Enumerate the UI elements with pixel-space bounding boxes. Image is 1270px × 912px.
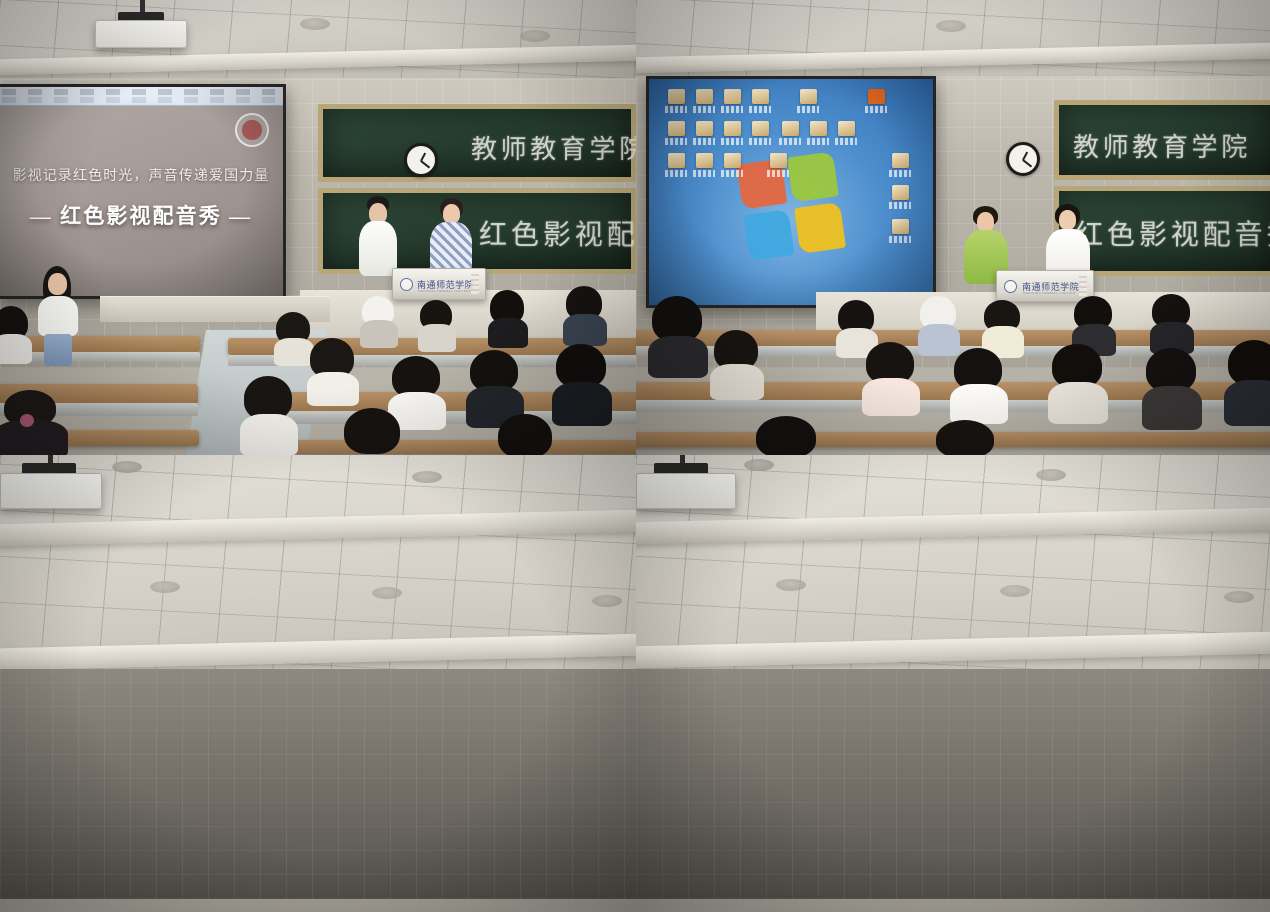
hair	[756, 416, 816, 455]
panel-top-right: 教师教育学院 红色影视配音秀	[636, 0, 1270, 455]
ceiling-speaker	[1036, 469, 1066, 481]
ceiling-speaker	[520, 30, 550, 42]
icon-glyph	[892, 153, 909, 168]
wall-tiling	[636, 669, 1270, 899]
torso	[862, 378, 920, 416]
slide-main-title: — 红色影视配音秀 —	[0, 200, 283, 230]
slide-toolbar	[0, 87, 283, 106]
blackboard-line1: 教师教育学院	[1073, 127, 1251, 164]
blackboard-line1: 教师教育学院	[471, 129, 636, 166]
student-seated	[954, 348, 1004, 422]
projection-screen	[646, 76, 936, 308]
student-seated	[362, 296, 396, 348]
torso	[552, 382, 612, 426]
front-wall	[0, 669, 636, 899]
torso	[307, 372, 359, 406]
ceiling-speaker	[1224, 591, 1254, 603]
icon-glyph	[724, 153, 741, 168]
student-seated	[244, 376, 294, 454]
podium-institution-en: NANTONG NORMAL COLLEGE	[418, 289, 471, 293]
podium-emblem-icon	[1004, 280, 1017, 293]
title-slide: 影视记录红色时光，声音传递爱国力量 — 红色影视配音秀 —	[0, 87, 283, 296]
logo-pane-yellow	[794, 202, 845, 253]
torso	[488, 318, 528, 348]
icon-glyph	[724, 121, 741, 136]
torso	[1142, 386, 1202, 430]
icon-glyph	[892, 185, 909, 200]
desktop-icon[interactable]	[865, 89, 887, 113]
desktop-icon[interactable]	[693, 89, 715, 113]
icon-glyph	[724, 89, 741, 104]
icon-glyph	[810, 121, 827, 136]
ceiling-projector	[95, 20, 187, 48]
icon-label	[889, 236, 911, 243]
slide-subtitle: 影视记录红色时光，声音传递爱国力量	[0, 165, 283, 185]
student-seated	[1146, 348, 1198, 426]
desktop-icon[interactable]	[807, 121, 829, 145]
torso	[0, 334, 32, 364]
podium-emblem-icon	[400, 278, 413, 291]
icon-label	[749, 138, 771, 145]
ceiling-speaker	[372, 587, 402, 599]
student-seated	[498, 414, 554, 455]
torso	[0, 420, 68, 455]
icon-glyph	[696, 89, 713, 104]
icon-label	[665, 106, 687, 113]
icon-label	[889, 170, 911, 177]
icon-label	[721, 138, 743, 145]
icon-label	[721, 170, 743, 177]
student-seated	[652, 296, 704, 376]
desktop-icon[interactable]	[665, 121, 687, 145]
ceiling-speaker	[112, 461, 142, 473]
icon-label	[665, 170, 687, 177]
icon-label	[749, 106, 771, 113]
student-seated	[556, 344, 608, 424]
ceiling-projector	[0, 473, 102, 509]
wall-tiling	[0, 669, 636, 899]
jeans	[44, 334, 72, 366]
student-seated	[920, 296, 958, 354]
torso	[274, 338, 314, 366]
icon-glyph	[668, 89, 685, 104]
desktop-icon[interactable]	[889, 153, 911, 177]
torso	[418, 324, 456, 352]
student-seated	[490, 290, 526, 346]
hair	[936, 420, 994, 455]
panel-bottom-right: 教师教育学院 红色影视配音秀 中国共产党万岁 光明电影频道	[636, 455, 1270, 912]
icon-label	[693, 106, 715, 113]
student-seated	[276, 312, 312, 364]
podium-ribbing	[471, 274, 479, 293]
hair	[498, 414, 552, 455]
desktop-icon[interactable]	[779, 121, 801, 145]
staff-female-aisle	[36, 266, 82, 366]
icon-label	[807, 138, 829, 145]
host-female	[430, 198, 472, 276]
head	[443, 204, 460, 224]
desktop-icon[interactable]	[665, 89, 687, 113]
torso	[710, 364, 764, 400]
icon-label	[665, 138, 687, 145]
icon-glyph	[770, 153, 787, 168]
desktop-icon[interactable]	[835, 121, 857, 145]
desktop-icon[interactable]	[749, 89, 771, 113]
blackboard-upper: 教师教育学院	[318, 104, 636, 182]
desktop-icon[interactable]	[721, 89, 743, 113]
photo-collage: 教师教育学院 红色影视配音秀 影视记录红色时光，声音传递爱国力量 — 红色影视配…	[0, 0, 1270, 912]
host-male	[358, 196, 398, 276]
blackboard-line2: 红色影视配音秀	[1075, 213, 1270, 253]
podium: 南通师范学院 NANTONG NORMAL COLLEGE	[392, 268, 486, 300]
icon-glyph	[838, 121, 855, 136]
torso	[563, 314, 607, 346]
wall-clock	[404, 143, 438, 177]
desktop-icon[interactable]	[889, 219, 911, 243]
wall-clock	[1006, 142, 1040, 176]
torso	[950, 384, 1008, 424]
student-seated	[866, 342, 916, 414]
desktop-icon[interactable]	[693, 153, 715, 177]
icon-glyph	[696, 121, 713, 136]
student-seated	[756, 416, 818, 455]
icon-label	[721, 106, 743, 113]
ceiling-speaker	[150, 581, 180, 593]
icon-glyph	[696, 153, 713, 168]
logo-pane-blue	[744, 209, 795, 260]
desktop-icon[interactable]	[889, 185, 911, 209]
toolbar-menu	[2, 97, 275, 103]
desktop-icon[interactable]	[721, 153, 743, 177]
ceiling-speaker	[744, 459, 774, 471]
torso	[360, 320, 398, 348]
desktop-icon[interactable]	[767, 153, 789, 177]
toolbar-buttons	[2, 89, 275, 95]
student-seated	[566, 286, 604, 344]
icon-glyph	[752, 89, 769, 104]
student-seated	[936, 420, 996, 455]
podium-ribbing	[1079, 276, 1088, 295]
windows-logo-icon	[736, 151, 845, 260]
bench-row	[262, 440, 636, 455]
student-seated	[310, 338, 356, 404]
torso	[1224, 380, 1270, 426]
student-seated	[1152, 294, 1192, 352]
icon-glyph	[800, 89, 817, 104]
ceiling-speaker	[1000, 585, 1030, 597]
logo-pane-green	[787, 151, 838, 202]
icon-label	[889, 202, 911, 209]
icon-glyph	[752, 121, 769, 136]
school-emblem-icon	[235, 113, 269, 147]
torso	[38, 296, 78, 336]
desktop-icon[interactable]	[693, 121, 715, 145]
student-seated	[714, 330, 760, 396]
icon-label	[693, 170, 715, 177]
head	[977, 212, 994, 232]
desktop-icon[interactable]	[721, 121, 743, 145]
icon-glyph	[868, 89, 885, 104]
panel-top-left: 教师教育学院 红色影视配音秀 影视记录红色时光，声音传递爱国力量 — 红色影视配…	[0, 0, 636, 455]
ceiling-projector	[636, 473, 736, 509]
student-seated	[0, 306, 30, 362]
panel-bottom-left: 教师教育学院 红色影视配音秀 需要你们去奉献 光明电影频道	[0, 455, 636, 912]
ceiling-speaker	[776, 579, 806, 591]
student-seated	[1228, 340, 1270, 422]
head	[1059, 210, 1076, 230]
podium-institution-en: NANTONG NORMAL COLLEGE	[1023, 291, 1076, 295]
blackboard-line2: 红色影视配音秀	[479, 213, 636, 253]
front-wall	[636, 669, 1270, 899]
student-seated	[1052, 344, 1104, 420]
ceiling-speaker	[300, 18, 330, 30]
icon-label	[767, 170, 789, 177]
floral-pattern	[20, 414, 34, 427]
bench-back	[262, 440, 636, 454]
icon-label	[797, 106, 819, 113]
blackboard-upper: 教师教育学院	[1054, 100, 1270, 180]
hair	[344, 408, 400, 454]
torso	[240, 414, 298, 455]
torso	[648, 336, 708, 378]
icon-label	[693, 138, 715, 145]
head	[48, 273, 67, 295]
icon-label	[835, 138, 857, 145]
desktop-icon[interactable]	[797, 89, 819, 113]
icon-glyph	[668, 153, 685, 168]
ceiling-speaker	[936, 20, 966, 32]
ceiling-speaker	[592, 595, 622, 607]
torso	[359, 221, 397, 276]
student-seated	[420, 300, 454, 352]
ceiling-speaker	[412, 471, 442, 483]
desktop-icon[interactable]	[665, 153, 687, 177]
windows-desktop	[649, 79, 933, 305]
icon-label	[865, 106, 887, 113]
desktop-icon[interactable]	[749, 121, 771, 145]
icon-glyph	[668, 121, 685, 136]
student-seated	[344, 408, 402, 455]
icon-label	[779, 138, 801, 145]
icon-glyph	[782, 121, 799, 136]
icon-glyph	[892, 219, 909, 234]
torso	[1048, 382, 1108, 424]
